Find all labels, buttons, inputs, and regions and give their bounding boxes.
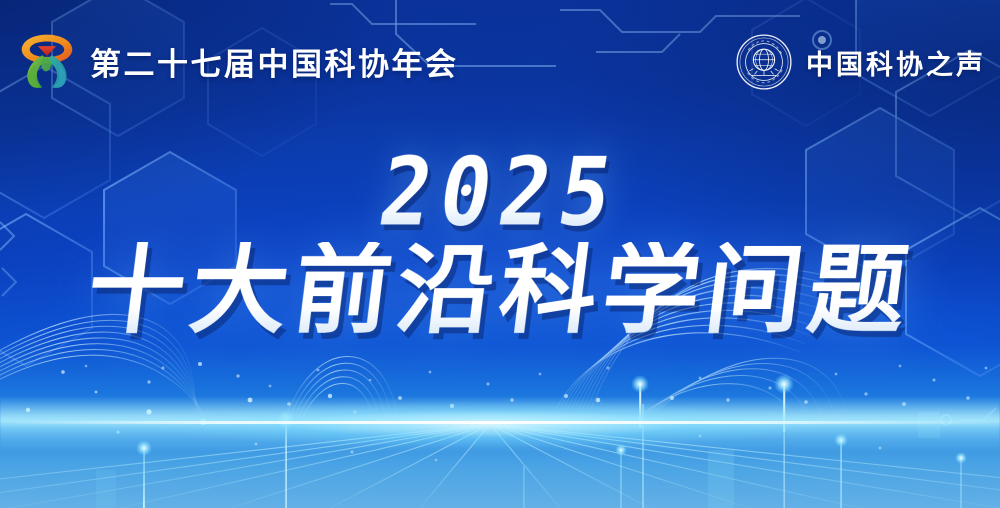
year-title: 2025 bbox=[367, 145, 632, 239]
cast-voice-seal-icon bbox=[736, 34, 792, 90]
conference-banner: 第二十七届中国科协年会 bbox=[0, 0, 1000, 508]
conference-brand-left: 第二十七届中国科协年会 bbox=[18, 30, 459, 92]
main-title-block: 2025 十大前沿科学问题 bbox=[0, 150, 1000, 341]
perspective-floor-grid bbox=[0, 424, 1000, 508]
conference-title-text: 第二十七届中国科协年会 bbox=[90, 39, 459, 84]
banner-header: 第二十七届中国科协年会 bbox=[0, 0, 1000, 118]
wave-lines-center bbox=[284, 356, 398, 424]
wave-lines-far-right bbox=[626, 358, 848, 426]
cast-voice-title-text: 中国科协之声 bbox=[806, 43, 986, 82]
cast-cube-logo-icon bbox=[18, 30, 76, 92]
headline-title: 十大前沿科学问题 bbox=[0, 242, 1000, 341]
cast-voice-brand-right: 中国科协之声 bbox=[736, 34, 986, 90]
